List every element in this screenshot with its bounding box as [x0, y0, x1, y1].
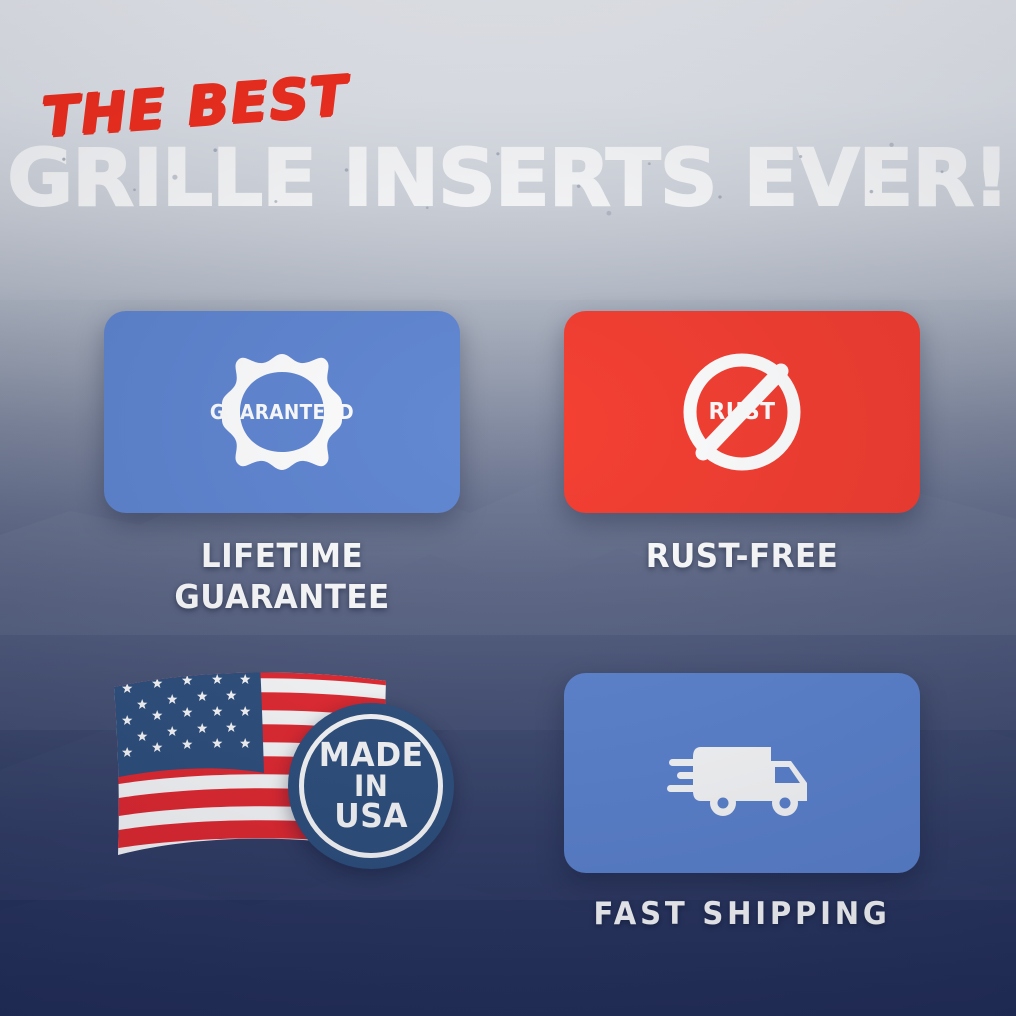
feature-caption-fast-shipping: FAST SHIPPING	[575, 895, 910, 934]
feature-caption-lifetime-guarantee: LIFETIME GUARANTEE	[115, 535, 450, 618]
feature-lifetime-guarantee: GUARANTEED LIFETIME GUARANTEE	[104, 311, 460, 618]
no-rust-icon: RUST	[667, 337, 817, 487]
caption-line-1: LIFETIME	[115, 535, 450, 576]
delivery-truck-icon	[667, 727, 817, 819]
feature-rust-free: RUST RUST-FREE	[564, 311, 920, 576]
guarantee-card[interactable]: GUARANTEED	[104, 311, 460, 513]
no-rust-label: RUST	[708, 399, 775, 425]
usa-flag-group: MADE IN USA	[100, 665, 460, 875]
headline-text: GRILLE INSERTS EVER!	[7, 140, 1009, 218]
made-in-usa-badge[interactable]: MADE IN USA	[288, 703, 454, 869]
fast-shipping-card[interactable]	[564, 673, 920, 873]
feature-caption-rust-free: RUST-FREE	[575, 535, 910, 576]
page-title: GRILLE INSERTS EVER!	[0, 140, 1016, 218]
rust-free-card[interactable]: RUST	[564, 311, 920, 513]
badge-line-3: USA	[319, 800, 424, 832]
badge-line-1: MADE	[319, 739, 424, 771]
feature-fast-shipping: FAST SHIPPING	[564, 673, 920, 934]
guarantee-seal-label: GUARANTEED	[210, 400, 354, 424]
feature-made-in-usa: MADE IN USA	[100, 665, 460, 875]
caption-line-2: GUARANTEE	[115, 576, 450, 617]
made-in-usa-label: MADE IN USA	[319, 739, 424, 832]
guarantee-seal-icon: GUARANTEED	[212, 346, 352, 478]
promo-poster: THE BEST GRILLE INSERTS EVER! GUARANTEED…	[0, 0, 1016, 1016]
